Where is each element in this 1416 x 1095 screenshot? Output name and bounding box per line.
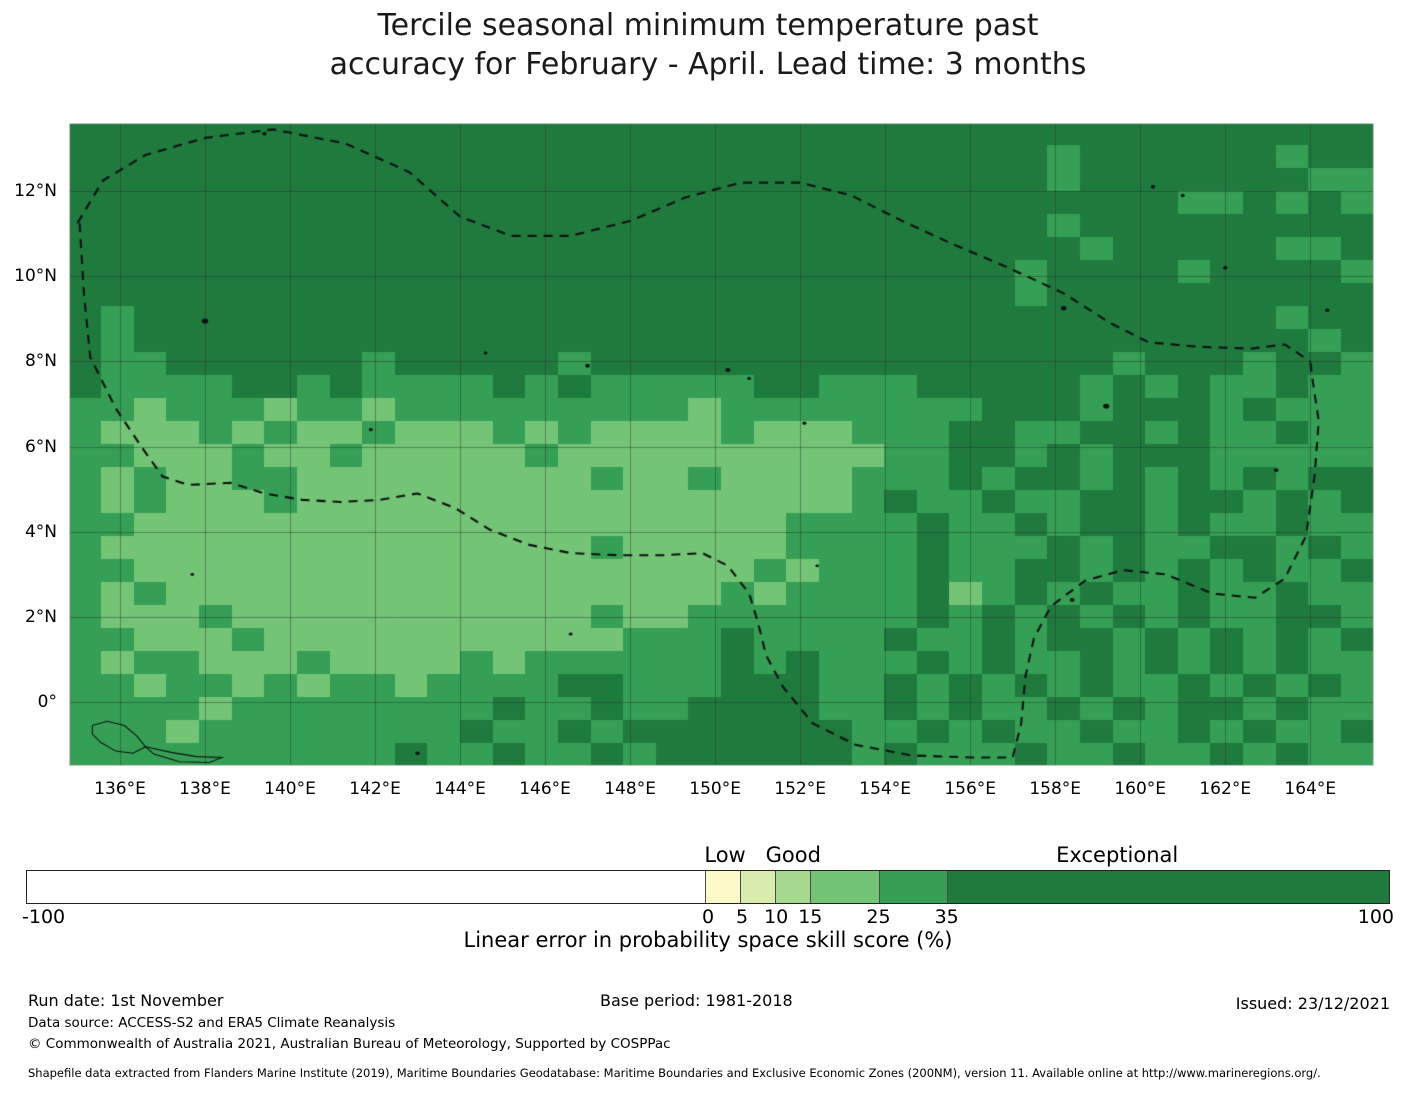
longitude-tick-8: 152°E <box>774 779 826 799</box>
longitude-tick-0: 136°E <box>94 779 146 799</box>
latitude-tick-4: 4°N <box>25 522 57 542</box>
colorbar-tick-0: -100 <box>22 906 65 928</box>
colorbar-segment-2 <box>741 871 776 903</box>
longitude-tick-13: 162°E <box>1199 779 1251 799</box>
run-date: Run date: 1st November <box>28 991 223 1010</box>
colorbar-category-exceptional: Exceptional <box>1056 843 1178 867</box>
colorbar-segment-5 <box>880 871 949 903</box>
colorbar-title: Linear error in probability space skill … <box>0 928 1416 952</box>
colorbar-tick-4: 15 <box>798 906 822 928</box>
longitude-tick-4: 144°E <box>434 779 486 799</box>
longitude-tick-1: 138°E <box>179 779 231 799</box>
shapefile-attribution: Shapefile data extracted from Flanders M… <box>28 1066 1321 1080</box>
colorbar-tick-2: 5 <box>736 906 748 928</box>
longitude-tick-10: 156°E <box>944 779 996 799</box>
longitude-tick-3: 142°E <box>349 779 401 799</box>
longitude-tick-2: 140°E <box>264 779 316 799</box>
colorbar-segment-3 <box>776 871 811 903</box>
colorbar-segment-0 <box>27 871 706 903</box>
issued-date: Issued: 23/12/2021 <box>1236 994 1390 1013</box>
colorbar-segment-1 <box>706 871 741 903</box>
copyright: © Commonwealth of Australia 2021, Austra… <box>28 1036 671 1052</box>
longitude-tick-7: 150°E <box>689 779 741 799</box>
colorbar-tick-7: 100 <box>1358 906 1394 928</box>
colorbar-segment-6 <box>948 871 1389 903</box>
colorbar <box>26 870 1390 904</box>
latitude-tick-6: 0° <box>38 692 57 712</box>
longitude-tick-5: 146°E <box>519 779 571 799</box>
latitude-tick-2: 8°N <box>25 351 57 371</box>
longitude-tick-14: 164°E <box>1284 779 1336 799</box>
colorbar-category-good: Good <box>766 843 821 867</box>
longitude-tick-9: 154°E <box>859 779 911 799</box>
colorbar-category-low: Low <box>704 843 745 867</box>
colorbar-tick-5: 25 <box>866 906 890 928</box>
colorbar-tick-1: 0 <box>702 906 714 928</box>
skill-score-heatmap <box>69 123 1374 766</box>
latitude-tick-3: 6°N <box>25 437 57 457</box>
longitude-tick-6: 148°E <box>604 779 656 799</box>
base-period: Base period: 1981-2018 <box>600 991 793 1010</box>
latitude-tick-0: 12°N <box>14 181 57 201</box>
data-source: Data source: ACCESS-S2 and ERA5 Climate … <box>28 1015 395 1031</box>
colorbar-tick-6: 35 <box>935 906 959 928</box>
latitude-tick-1: 10°N <box>14 266 57 286</box>
colorbar-tick-3: 10 <box>764 906 788 928</box>
page-title: Tercile seasonal minimum temperature pas… <box>0 6 1416 84</box>
longitude-tick-12: 160°E <box>1114 779 1166 799</box>
colorbar-segment-4 <box>811 871 880 903</box>
longitude-tick-11: 158°E <box>1029 779 1081 799</box>
latitude-tick-5: 2°N <box>25 607 57 627</box>
map-plot-area <box>69 123 1374 766</box>
